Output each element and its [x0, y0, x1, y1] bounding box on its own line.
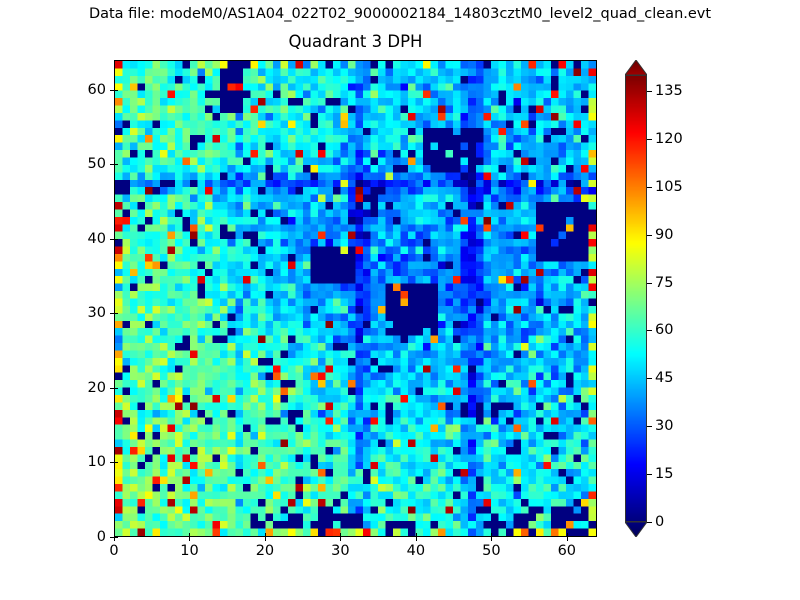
x-tick-label: 50 — [482, 543, 500, 559]
x-tick-label: 0 — [109, 543, 118, 559]
y-tick-label: 30 — [88, 305, 106, 321]
x-tick-mark — [491, 537, 492, 541]
y-tick-mark — [114, 313, 118, 314]
colorbar-gradient-body — [625, 75, 647, 522]
x-tick-mark — [265, 533, 266, 537]
colorbar-tick-label: 75 — [655, 275, 673, 291]
colorbar-tick-mark — [647, 139, 652, 140]
colorbar-tick-label: 0 — [655, 514, 664, 530]
matplotlib-figure: Data file: modeM0/AS1A04_022T02_90000021… — [0, 0, 800, 600]
x-tick-mark — [340, 533, 341, 537]
colorbar-tick-label: 45 — [655, 370, 673, 386]
page-title: Quadrant 3 DPH — [114, 32, 597, 51]
y-tick-label: 40 — [88, 231, 106, 247]
y-tick-mark — [114, 90, 118, 91]
y-tick-mark — [114, 164, 118, 165]
y-tick-label: 10 — [88, 454, 106, 470]
colorbar-tick-label: 135 — [655, 83, 683, 99]
x-tick-mark — [189, 533, 190, 537]
colorbar-tick-mark — [647, 330, 652, 331]
colorbar-tick-mark — [647, 283, 652, 284]
y-tick-mark — [114, 388, 118, 389]
colorbar-tick-mark — [647, 91, 652, 92]
x-tick-label: 10 — [180, 543, 198, 559]
colorbar-tick-label: 105 — [655, 179, 683, 195]
x-tick-mark — [416, 537, 417, 541]
x-tick-mark — [340, 537, 341, 541]
colorbar-tick-label: 60 — [655, 322, 673, 338]
x-tick-label: 20 — [256, 543, 274, 559]
colorbar-top-extend-arrow-icon — [625, 60, 647, 75]
y-tick-mark — [114, 239, 118, 240]
colorbar-tick-mark — [647, 426, 652, 427]
y-tick-label: 0 — [97, 529, 106, 545]
colorbar-tick-mark — [647, 474, 652, 475]
colorbar[interactable] — [625, 60, 647, 537]
colorbar-tick-label: 15 — [655, 466, 673, 482]
colorbar-gradient-canvas — [626, 76, 646, 521]
heatmap-axes[interactable] — [114, 60, 597, 537]
x-tick-label: 40 — [407, 543, 425, 559]
x-tick-mark — [491, 533, 492, 537]
colorbar-tick-mark — [647, 378, 652, 379]
colorbar-tick-label: 30 — [655, 418, 673, 434]
y-tick-mark — [114, 537, 118, 538]
y-tick-mark — [114, 462, 118, 463]
x-tick-mark — [567, 537, 568, 541]
colorbar-tick-mark — [647, 187, 652, 188]
x-tick-label: 60 — [558, 543, 576, 559]
colorbar-bottom-extend-arrow-icon — [625, 522, 647, 537]
colorbar-tick-mark — [647, 522, 652, 523]
colorbar-tick-label: 90 — [655, 227, 673, 243]
colorbar-tick-label: 120 — [655, 131, 683, 147]
x-tick-mark — [189, 537, 190, 541]
y-tick-label: 20 — [88, 380, 106, 396]
x-tick-mark — [567, 533, 568, 537]
x-tick-mark — [416, 533, 417, 537]
data-file-suptitle: Data file: modeM0/AS1A04_022T02_90000021… — [0, 6, 800, 22]
y-tick-label: 50 — [88, 156, 106, 172]
x-tick-label: 30 — [331, 543, 349, 559]
y-tick-label: 60 — [88, 82, 106, 98]
x-tick-mark — [265, 537, 266, 541]
dph-heatmap-image[interactable] — [115, 61, 596, 536]
colorbar-tick-mark — [647, 235, 652, 236]
